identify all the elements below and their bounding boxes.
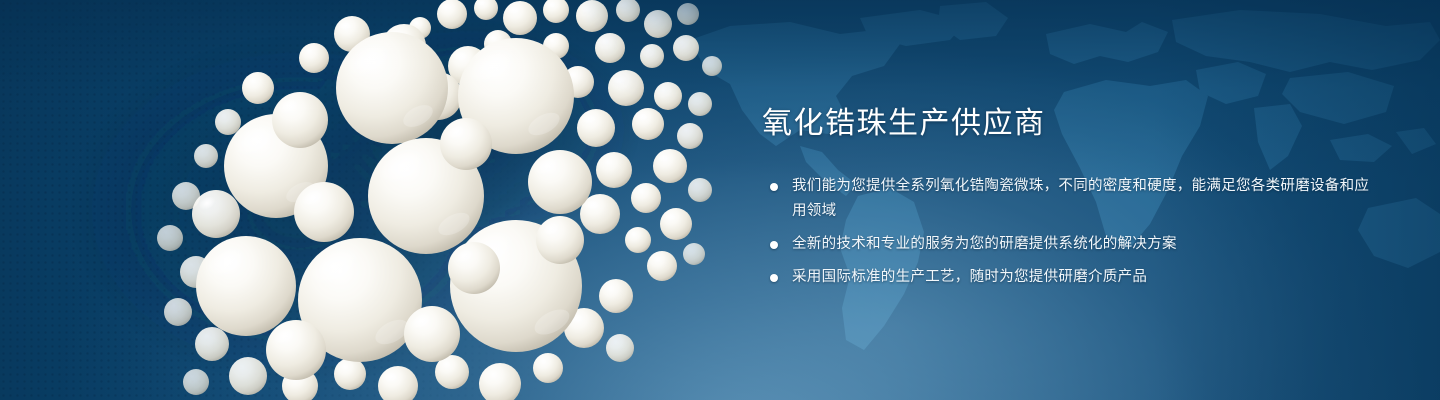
zirconia-beads-image bbox=[0, 0, 760, 400]
list-item-text: 采用国际标准的生产工艺，随时为您提供研磨介质产品 bbox=[792, 269, 1147, 285]
list-item-text: 我们能为您提供全系列氧化锆陶瓷微珠，不同的密度和硬度，能满足您各类研磨设备和应用… bbox=[792, 178, 1369, 219]
list-item: 我们能为您提供全系列氧化锆陶瓷微珠，不同的密度和硬度，能满足您各类研磨设备和应用… bbox=[762, 174, 1382, 224]
list-item-text: 全新的技术和专业的服务为您的研磨提供系统化的解决方案 bbox=[792, 236, 1177, 252]
feature-list: 我们能为您提供全系列氧化锆陶瓷微珠，不同的密度和硬度，能满足您各类研磨设备和应用… bbox=[762, 174, 1382, 290]
bullet-dot-icon bbox=[770, 241, 778, 249]
hero-copy: 氧化锆珠生产供应商 我们能为您提供全系列氧化锆陶瓷微珠，不同的密度和硬度，能满足… bbox=[762, 104, 1382, 290]
bullet-dot-icon bbox=[770, 183, 778, 191]
hero-banner: 氧化锆珠生产供应商 我们能为您提供全系列氧化锆陶瓷微珠，不同的密度和硬度，能满足… bbox=[0, 0, 1440, 400]
bullet-dot-icon bbox=[770, 274, 778, 282]
list-item: 全新的技术和专业的服务为您的研磨提供系统化的解决方案 bbox=[762, 232, 1382, 257]
list-item: 采用国际标准的生产工艺，随时为您提供研磨介质产品 bbox=[762, 265, 1382, 290]
page-title: 氧化锆珠生产供应商 bbox=[762, 104, 1382, 144]
